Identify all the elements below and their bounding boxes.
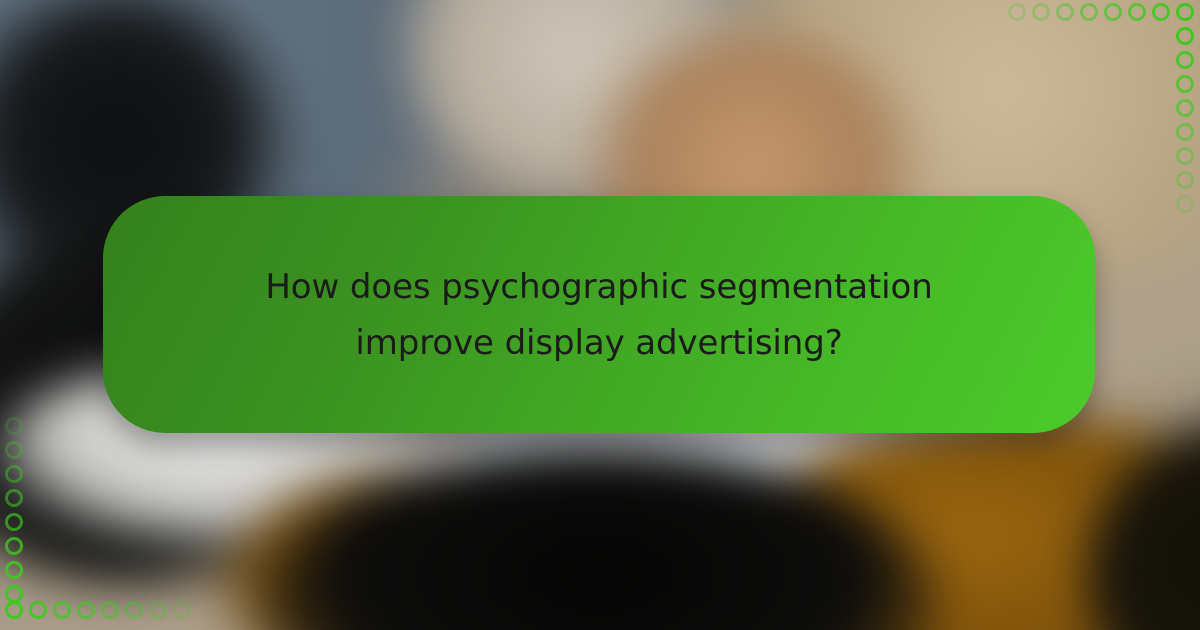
question-text: How does psychographic segmentation impr… bbox=[249, 259, 949, 371]
question-card: How does psychographic segmentation impr… bbox=[103, 196, 1095, 433]
social-card-canvas: How does psychographic segmentation impr… bbox=[0, 0, 1200, 630]
